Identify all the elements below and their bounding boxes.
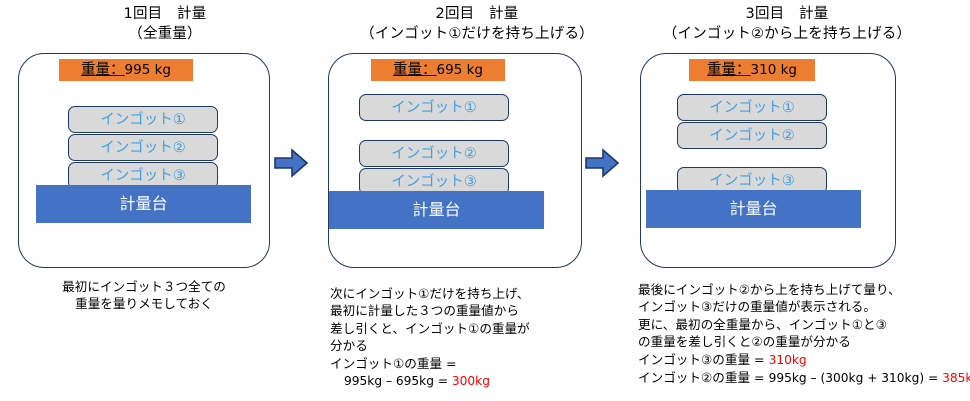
step-1-column: 1回目 計量 （全重量） 重量：995 kg インゴット① インゴット② インゴ… [0, 0, 330, 401]
step-3-result3-answer: 310kg [769, 353, 807, 367]
step-2-formula-answer: 300kg [452, 374, 490, 388]
weight-value: 995 kg [125, 62, 171, 78]
step-1-title: 1回目 計量 （全重量） [0, 4, 330, 44]
diagram-canvas: 1回目 計量 （全重量） 重量：995 kg インゴット① インゴット② インゴ… [0, 0, 970, 401]
step-2-caption-line-5: インゴット①の重量 = [330, 355, 530, 372]
step-2-weight-display: 重量：695 kg [371, 59, 505, 81]
scale-platform-3: 計量台 [646, 190, 861, 228]
step-2-caption: 次にインゴット①だけを持ち上げ、 最初に計量した３つの重量値から 差し引くと、イ… [330, 285, 530, 390]
ingot-block-2: インゴット② [677, 122, 827, 149]
step-1-title-line1: 1回目 計量 [0, 4, 330, 24]
step-1-caption-line-2: 重量を量りメモしておく [0, 295, 288, 312]
step-3-caption: 最後にインゴット②から上を持ち上げて量り、 インゴット③だけの重量値が表示される… [638, 281, 970, 387]
step-2-caption-line-1: 次にインゴット①だけを持ち上げ、 [330, 285, 530, 302]
scale-platform-2: 計量台 [329, 191, 544, 229]
ingot-block-2: インゴット② [68, 134, 218, 161]
weight-label: 重量： [707, 62, 751, 78]
step-2-formula-prefix: 995kg – 695kg = [344, 374, 452, 388]
right-arrow-icon-1 [274, 148, 308, 178]
step-3-caption-line-3: 更に、最初の全重量から、インゴット①と③ [638, 316, 970, 333]
step-3-column: 3回目 計量 （インゴット②から上を持ち上げる） 重量：310 kg インゴット… [622, 0, 952, 401]
weight-label: 重量： [81, 62, 125, 78]
step-3-title: 3回目 計量 （インゴット②から上を持ち上げる） [622, 4, 952, 44]
right-arrow-icon-2 [585, 148, 619, 178]
weight-value: 310 kg [751, 62, 797, 78]
step-2-formula: 995kg – 695kg = 300kg [330, 372, 530, 390]
step-3-result-ingot3: インゴット③の重量 = 310kg [638, 351, 970, 369]
weight-label: 重量： [393, 62, 437, 78]
step-1-caption: 最初にインゴット３つ全ての 重量を量りメモしておく [0, 278, 288, 313]
step-1-panel: 重量：995 kg インゴット① インゴット② インゴット③ 計量台 [18, 53, 270, 268]
ingot-block-2: インゴット② [359, 140, 509, 167]
ingot-block-1: インゴット① [677, 94, 827, 121]
step-3-panel: 重量：310 kg インゴット① インゴット② インゴット③ 計量台 [640, 53, 896, 268]
step-3-result2-label: インゴット②の重量 = [638, 370, 769, 385]
step-2-caption-line-3: 差し引くと、インゴット①の重量が [330, 320, 530, 337]
step-2-panel: 重量：695 kg インゴット① インゴット② インゴット③ 計量台 [328, 53, 582, 268]
scale-platform-1: 計量台 [36, 185, 251, 223]
ingot-block-1: インゴット① [359, 94, 509, 121]
step-2-column: 2回目 計量 （インゴット①だけを持ち上げる） 重量：695 kg インゴット①… [312, 0, 642, 401]
step-3-title-line2: （インゴット②から上を持ち上げる） [622, 24, 952, 44]
step-3-title-line1: 3回目 計量 [622, 4, 952, 24]
step-3-result2-formula: 995kg – (300kg + 310kg) = [769, 371, 942, 385]
step-1-title-line2: （全重量） [0, 24, 330, 44]
step-1-caption-line-1: 最初にインゴット３つ全ての [0, 278, 288, 295]
step-3-caption-line-2: インゴット③だけの重量値が表示される。 [638, 298, 970, 315]
step-2-title-line2: （インゴット①だけを持ち上げる） [312, 24, 642, 44]
step-2-title: 2回目 計量 （インゴット①だけを持ち上げる） [312, 4, 642, 44]
step-2-caption-line-4: 分かる [330, 337, 530, 354]
step-2-caption-line-2: 最初に計量した３つの重量値から [330, 302, 530, 319]
step-3-result-ingot2: インゴット②の重量 = 995kg – (300kg + 310kg) = 38… [638, 369, 970, 387]
step-3-caption-line-1: 最後にインゴット②から上を持ち上げて量り、 [638, 281, 970, 298]
step-3-weight-display: 重量：310 kg [689, 59, 815, 81]
ingot-block-1: インゴット① [68, 106, 218, 133]
step-3-result3-label: インゴット③の重量 = [638, 352, 769, 367]
step-3-result2-answer: 385kg [942, 371, 970, 385]
step-2-title-line1: 2回目 計量 [312, 4, 642, 24]
weight-value: 695 kg [437, 62, 483, 78]
step-3-caption-line-4: の重量を差し引くと②の重量が分かる [638, 333, 970, 350]
step-1-weight-display: 重量：995 kg [59, 59, 193, 81]
